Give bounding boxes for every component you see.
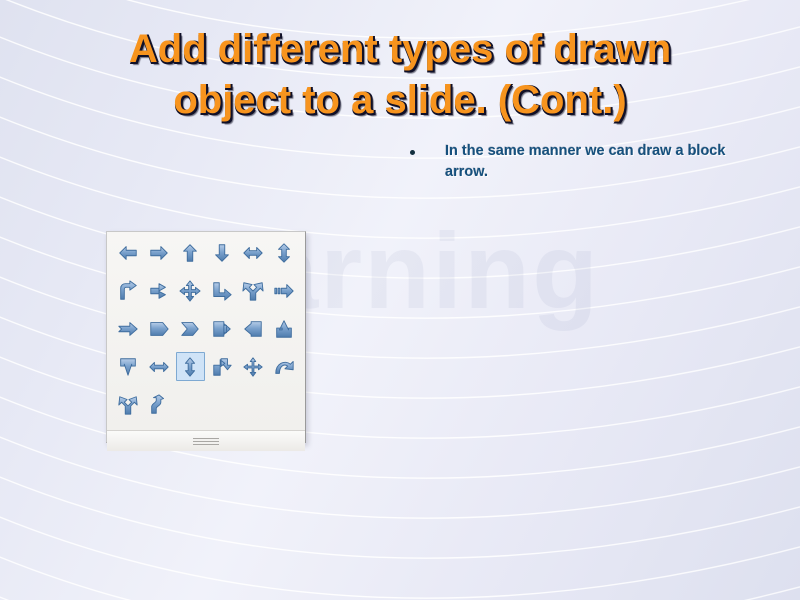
toolbar-item-up-arrow[interactable]	[176, 238, 205, 267]
left-arrow-callout-icon	[242, 318, 264, 340]
toolbar-item-chevron[interactable]	[176, 314, 205, 343]
toolbar-item-circular-arrow[interactable]	[270, 352, 299, 381]
up-right-arrow-callout-icon	[211, 356, 233, 378]
s-shaped-arrow-icon	[148, 394, 170, 416]
block-arrows-toolbar[interactable]	[106, 231, 306, 443]
up-right-arrow-icon	[117, 280, 139, 302]
toolbar-item-corner-arrow[interactable]	[207, 276, 236, 305]
up-arrow-callout-icon	[273, 318, 295, 340]
down-arrow-icon	[211, 242, 233, 264]
presentation-slide: earning Add different types of drawn obj…	[0, 0, 800, 600]
bullet-marker-icon	[410, 150, 415, 155]
circular-arrow-icon	[273, 356, 295, 378]
striped-right-arrow-icon	[273, 280, 295, 302]
toolbar-item-pentagon[interactable]	[144, 314, 173, 343]
toolbar-item-right-arrow[interactable]	[144, 238, 173, 267]
bullet-item-label: In the same manner we can draw a block a…	[445, 141, 770, 183]
block-arrows-grid	[107, 232, 305, 430]
split-arrow-two-way-icon	[117, 394, 139, 416]
toolbar-item-split-arrow-two-way[interactable]	[113, 390, 142, 419]
toolbar-item-striped-right-arrow[interactable]	[270, 276, 299, 305]
up-down-arrow-callout-icon	[179, 356, 201, 378]
toolbar-item-up-arrow-callout[interactable]	[270, 314, 299, 343]
toolbar-item-up-right-arrow-callout[interactable]	[207, 352, 236, 381]
toolbar-item-left-arrow-callout[interactable]	[238, 314, 267, 343]
y-split-arrow-icon	[242, 280, 264, 302]
toolbar-item-right-arrow-callout[interactable]	[207, 314, 236, 343]
toolbar-item-split-arrow[interactable]	[144, 276, 173, 305]
bullet-list-item: In the same manner we can draw a block a…	[410, 141, 770, 183]
toolbar-item-s-shaped-arrow[interactable]	[144, 390, 173, 419]
toolbar-footer	[107, 430, 305, 451]
chevron-icon	[179, 318, 201, 340]
left-arrow-icon	[117, 242, 139, 264]
toolbar-item-notched-right-arrow[interactable]	[113, 314, 142, 343]
toolbar-item-four-way-arrow[interactable]	[176, 276, 205, 305]
toolbar-item-up-right-arrow[interactable]	[113, 276, 142, 305]
up-down-arrow-icon	[273, 242, 295, 264]
toolbar-item-down-arrow[interactable]	[207, 238, 236, 267]
split-arrow-icon	[148, 280, 170, 302]
left-right-arrow-callout-icon	[148, 356, 170, 378]
toolbar-item-down-arrow-callout[interactable]	[113, 352, 142, 381]
notched-right-arrow-icon	[117, 318, 139, 340]
right-arrow-icon	[148, 242, 170, 264]
toolbar-item-left-right-arrow[interactable]	[238, 238, 267, 267]
toolbar-item-up-down-arrow-callout[interactable]	[176, 352, 205, 381]
down-arrow-callout-icon	[117, 356, 139, 378]
drag-handle-icon[interactable]	[193, 438, 219, 445]
slide-title: Add different types of drawn object to a…	[55, 24, 745, 126]
toolbar-item-four-way-arrow-callout[interactable]	[238, 352, 267, 381]
left-right-arrow-icon	[242, 242, 264, 264]
up-arrow-icon	[179, 242, 201, 264]
corner-arrow-icon	[211, 280, 233, 302]
toolbar-item-left-right-arrow-callout[interactable]	[144, 352, 173, 381]
pentagon-icon	[148, 318, 170, 340]
right-arrow-callout-icon	[211, 318, 233, 340]
four-way-arrow-icon	[179, 280, 201, 302]
toolbar-item-left-arrow[interactable]	[113, 238, 142, 267]
toolbar-item-up-down-arrow[interactable]	[270, 238, 299, 267]
toolbar-item-y-split-arrow[interactable]	[238, 276, 267, 305]
four-way-arrow-callout-icon	[242, 356, 264, 378]
